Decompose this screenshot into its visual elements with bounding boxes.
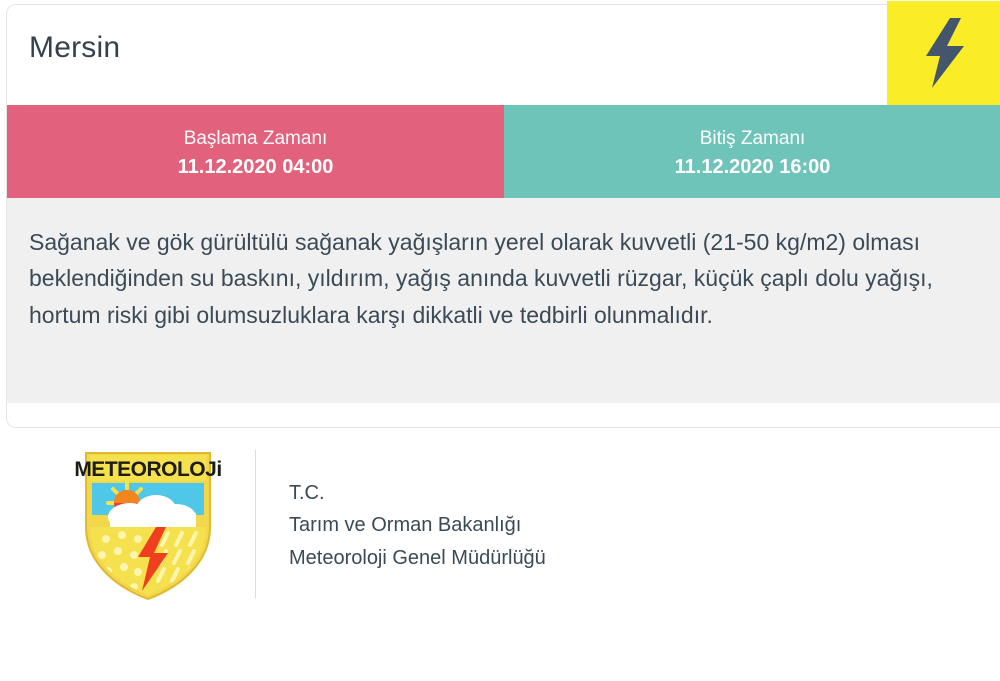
description-panel: Sağanak ve gök gürültülü sağanak yağışla…: [7, 198, 1000, 403]
start-time-value: 11.12.2020 04:00: [178, 154, 334, 181]
start-time-cell: Başlama Zamanı 11.12.2020 04:00: [7, 105, 504, 198]
start-time-label: Başlama Zamanı: [184, 126, 328, 152]
end-time-label: Bitiş Zamanı: [700, 126, 806, 152]
page-title: Mersin: [29, 31, 120, 65]
logo-wordmark: METEOROLOJi: [74, 458, 221, 481]
end-time-value: 11.12.2020 16:00: [675, 154, 831, 181]
agency-footer: METEOROLOJi: [0, 437, 1000, 617]
agency-line-1: T.C.: [289, 477, 546, 509]
agency-line-2: Tarım ve Orman Bakanlığı: [289, 509, 546, 541]
agency-line-3: Meteoroloji Genel Müdürlüğü: [289, 542, 546, 574]
agency-name-block: T.C. Tarım ve Orman Bakanlığı Meteoroloj…: [289, 477, 546, 574]
footer-divider: [255, 450, 256, 598]
lightning-bolt-icon: [920, 18, 968, 88]
warning-description: Sağanak ve gök gürültülü sağanak yağışla…: [29, 224, 969, 333]
card-header: Mersin: [7, 5, 1000, 101]
weather-warning-card: Mersin Başlama Zamanı 11.12.2020 04:00 B…: [6, 4, 1000, 428]
severity-badge: [887, 1, 1000, 105]
meteoroloji-shield-logo: METEOROLOJi: [72, 445, 224, 605]
end-time-cell: Bitiş Zamanı 11.12.2020 16:00: [504, 105, 1000, 198]
time-range-bar: Başlama Zamanı 11.12.2020 04:00 Bitiş Za…: [7, 105, 1000, 198]
